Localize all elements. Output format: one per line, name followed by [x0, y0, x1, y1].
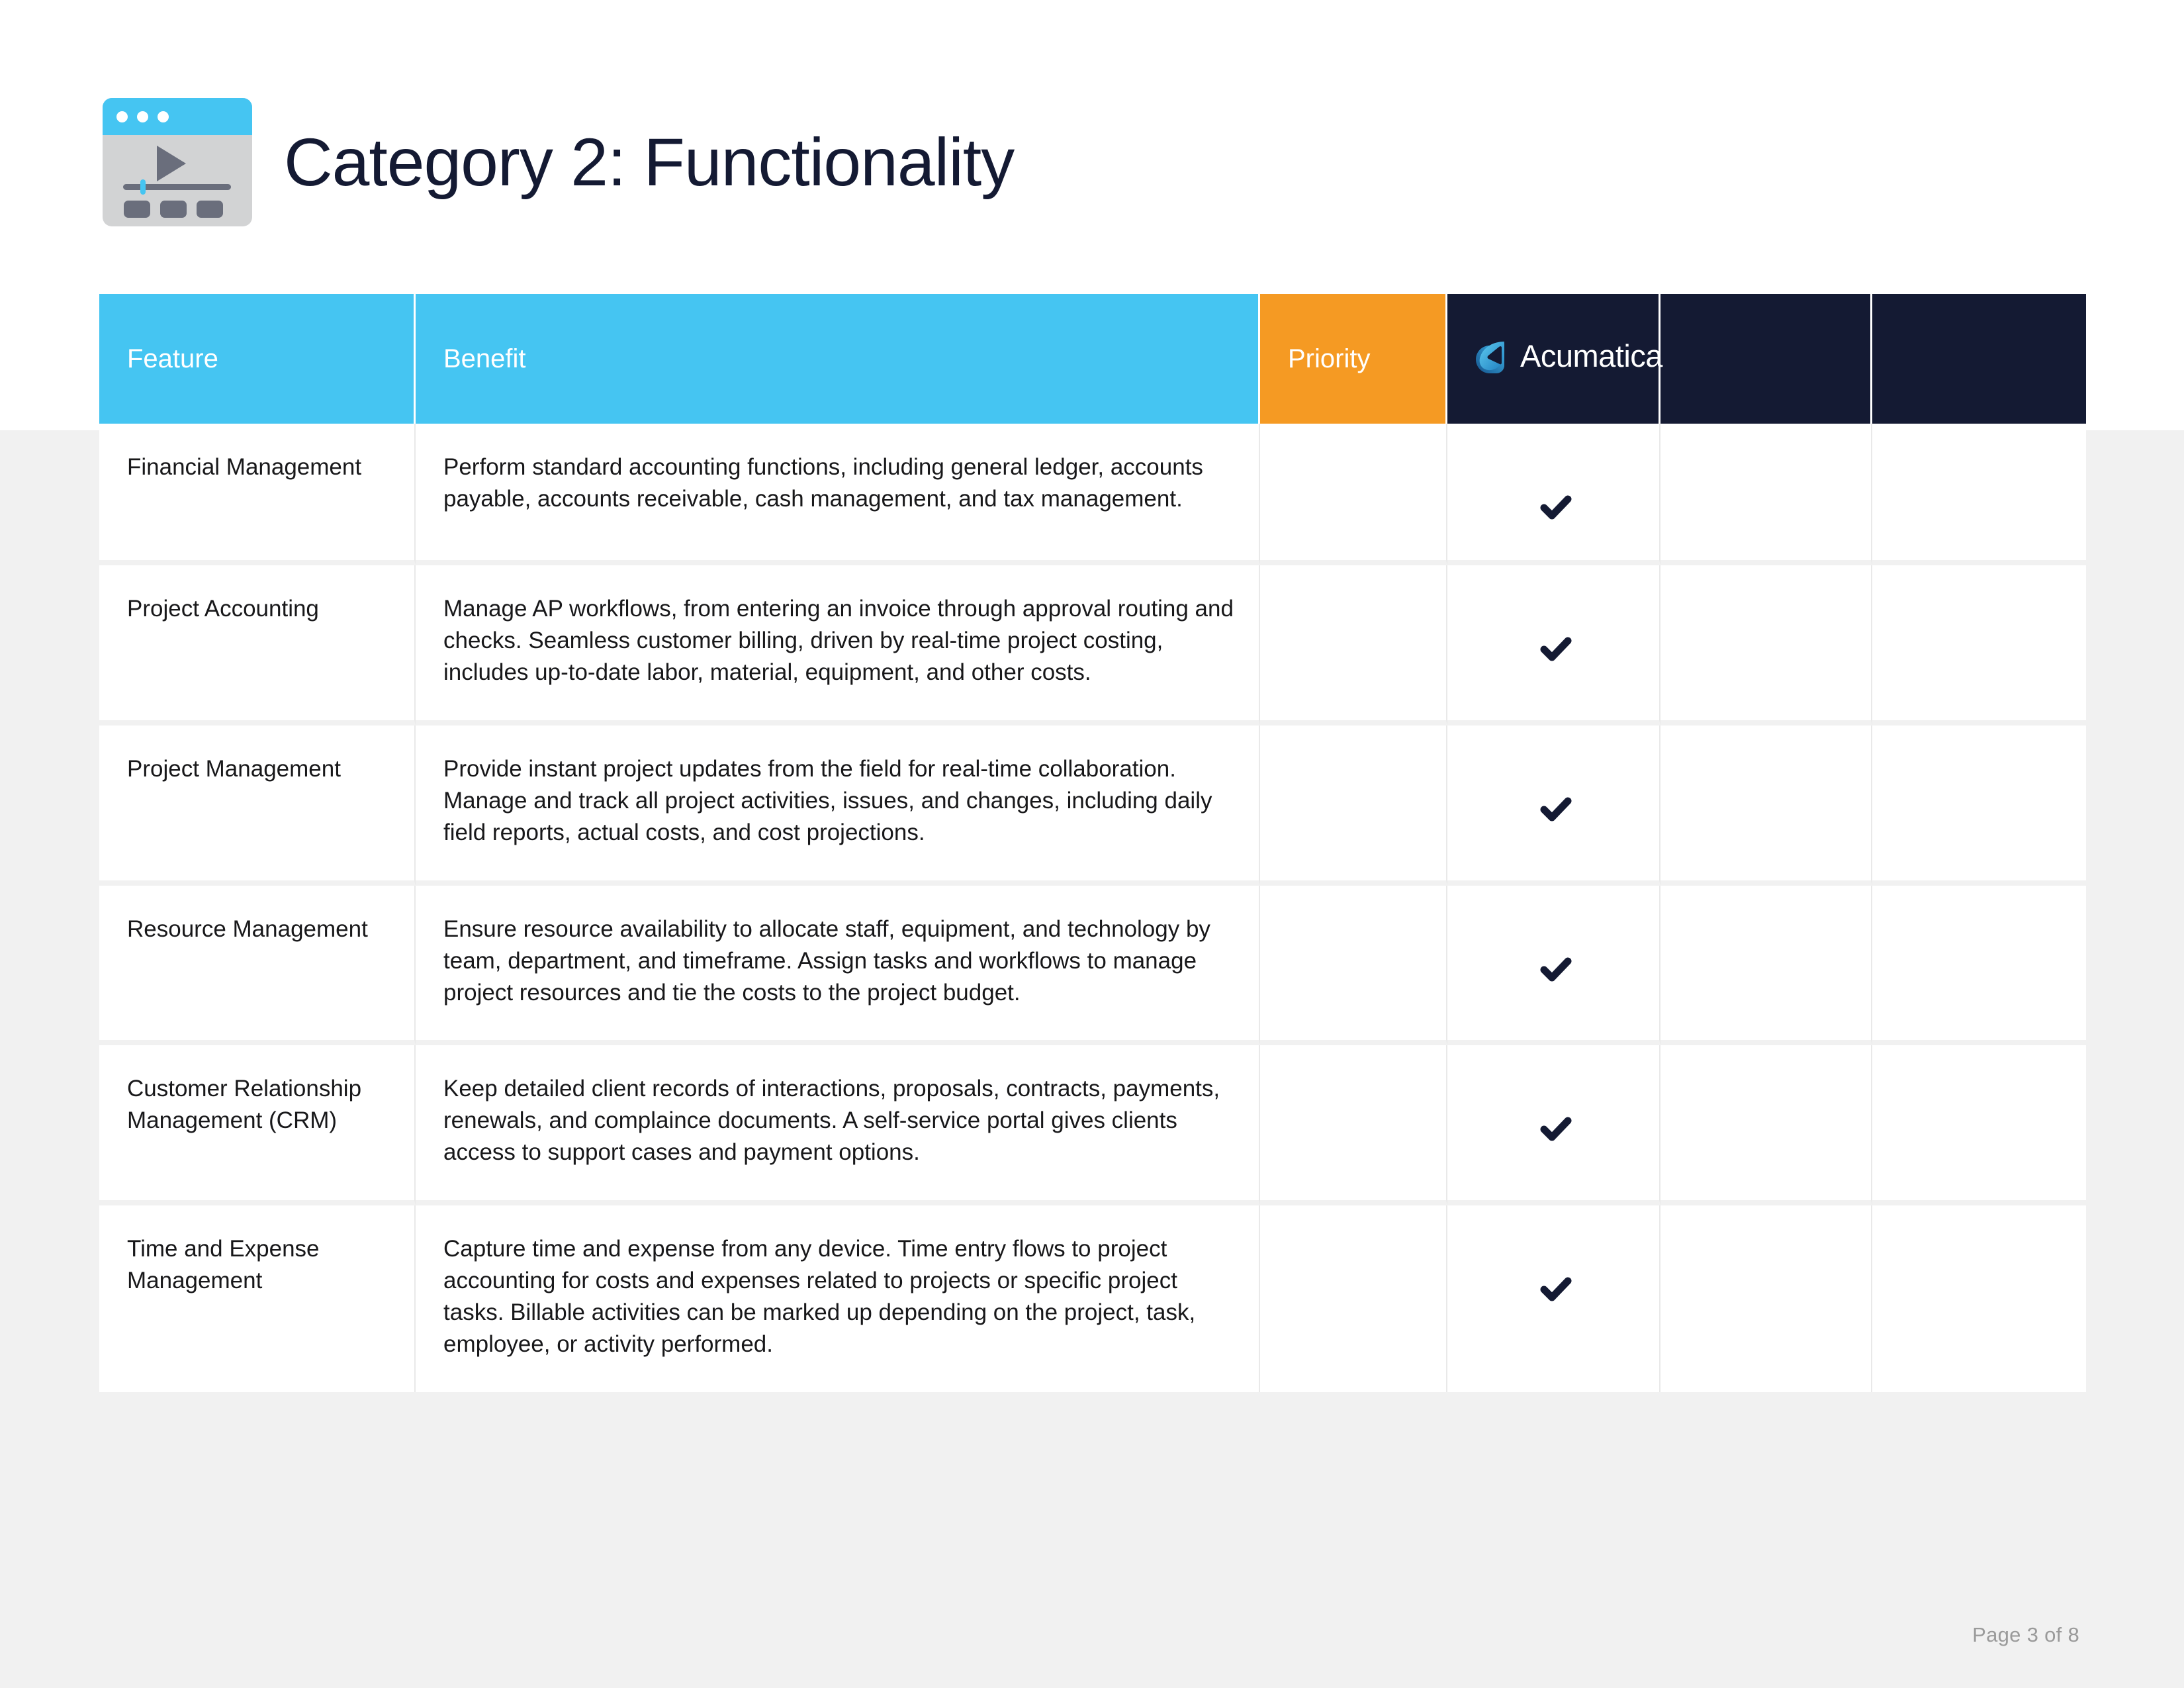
cell-priority[interactable] — [1260, 1045, 1447, 1205]
column-header-vendor-3 — [1872, 294, 2086, 424]
table-row: Resource Management Ensure resource avai… — [99, 886, 2086, 1046]
cell-vendor-2[interactable] — [1661, 726, 1872, 886]
cell-benefit: Ensure resource availability to allocate… — [416, 886, 1260, 1046]
table-row: Customer Relationship Management (CRM) K… — [99, 1045, 2086, 1205]
check-icon — [1535, 949, 1576, 990]
cell-priority[interactable] — [1260, 1205, 1447, 1392]
document-header: Category 2: Functionality — [103, 98, 1014, 226]
cell-priority[interactable] — [1260, 424, 1447, 565]
cell-priority[interactable] — [1260, 886, 1447, 1046]
check-icon — [1535, 789, 1576, 830]
media-player-window-icon — [103, 98, 252, 226]
cell-vendor-3[interactable] — [1872, 1045, 2086, 1205]
cell-vendor-acumatica[interactable] — [1447, 886, 1661, 1046]
acumatica-wordmark: Acumatica — [1520, 338, 1662, 374]
cell-benefit: Capture time and expense from any device… — [416, 1205, 1260, 1392]
column-header-vendor-acumatica: Acumatica — [1447, 294, 1661, 424]
cell-feature: Project Accounting — [99, 565, 416, 726]
column-header-priority: Priority — [1260, 294, 1447, 424]
column-header-feature: Feature — [99, 294, 416, 424]
cell-vendor-acumatica[interactable] — [1447, 1205, 1661, 1392]
cell-vendor-acumatica[interactable] — [1447, 726, 1661, 886]
cell-vendor-acumatica[interactable] — [1447, 424, 1661, 565]
column-header-vendor-2 — [1661, 294, 1872, 424]
table-row: Project Accounting Manage AP workflows, … — [99, 565, 2086, 726]
page-title: Category 2: Functionality — [284, 128, 1014, 196]
cell-vendor-2[interactable] — [1661, 424, 1872, 565]
cell-vendor-3[interactable] — [1872, 1205, 2086, 1392]
cell-benefit: Provide instant project updates from the… — [416, 726, 1260, 886]
cell-feature: Resource Management — [99, 886, 416, 1046]
cell-vendor-acumatica[interactable] — [1447, 1045, 1661, 1205]
cell-vendor-2[interactable] — [1661, 565, 1872, 726]
table-header-row: Feature Benefit Priority — [99, 294, 2086, 424]
check-icon — [1535, 487, 1576, 528]
cell-benefit: Keep detailed client records of interact… — [416, 1045, 1260, 1205]
cell-feature: Time and Expense Management — [99, 1205, 416, 1392]
cell-vendor-2[interactable] — [1661, 1045, 1872, 1205]
feature-comparison-table: Feature Benefit Priority — [99, 294, 2086, 1392]
cell-vendor-3[interactable] — [1872, 565, 2086, 726]
cell-vendor-2[interactable] — [1661, 1205, 1872, 1392]
cell-feature: Project Management — [99, 726, 416, 886]
cell-vendor-3[interactable] — [1872, 424, 2086, 565]
check-icon — [1535, 1269, 1576, 1310]
table-body: Financial Management Perform standard ac… — [99, 424, 2086, 1392]
cell-priority[interactable] — [1260, 726, 1447, 886]
cell-priority[interactable] — [1260, 565, 1447, 726]
check-icon — [1535, 1109, 1576, 1150]
page-number: Page 3 of 8 — [1972, 1623, 2079, 1647]
cell-vendor-3[interactable] — [1872, 886, 2086, 1046]
cell-benefit: Perform standard accounting functions, i… — [416, 424, 1260, 565]
table-row: Time and Expense Management Capture time… — [99, 1205, 2086, 1392]
check-icon — [1535, 629, 1576, 670]
acumatica-logo-icon — [1475, 339, 1510, 373]
cell-vendor-acumatica[interactable] — [1447, 565, 1661, 726]
cell-vendor-3[interactable] — [1872, 726, 2086, 886]
cell-benefit: Manage AP workflows, from entering an in… — [416, 565, 1260, 726]
column-header-benefit: Benefit — [416, 294, 1260, 424]
table-row: Financial Management Perform standard ac… — [99, 424, 2086, 565]
table-row: Project Management Provide instant proje… — [99, 726, 2086, 886]
cell-feature: Customer Relationship Management (CRM) — [99, 1045, 416, 1205]
cell-feature: Financial Management — [99, 424, 416, 565]
cell-vendor-2[interactable] — [1661, 886, 1872, 1046]
